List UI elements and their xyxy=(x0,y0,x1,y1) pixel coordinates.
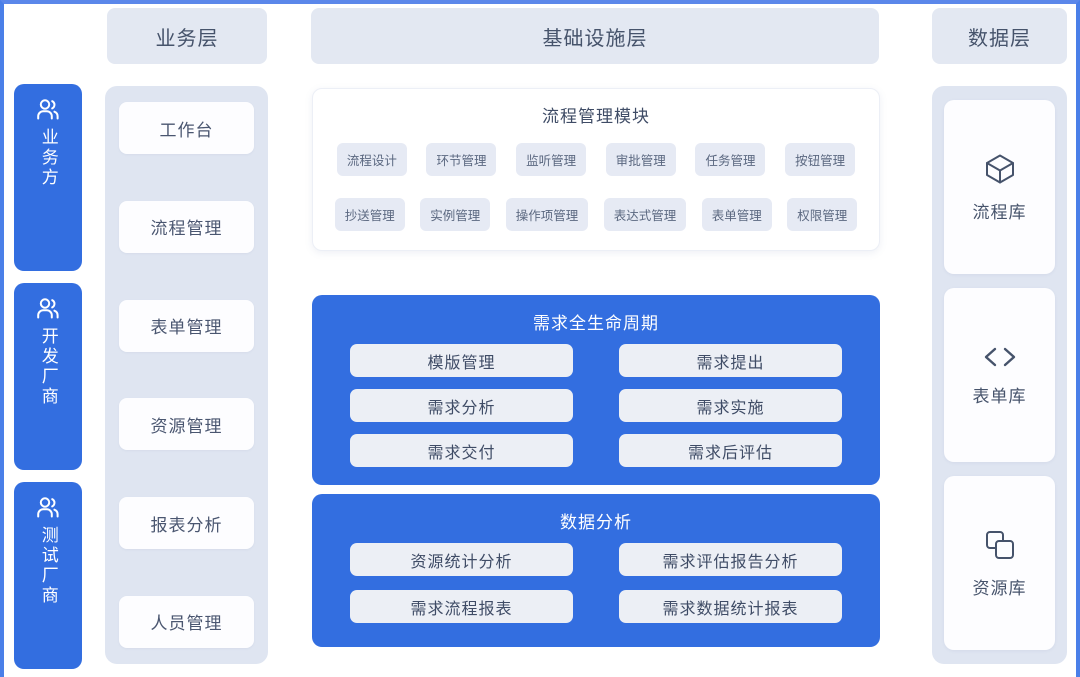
analysis-item-resource-statistics[interactable]: 资源统计分析 xyxy=(350,543,573,576)
role-card-business-party[interactable]: 业务方 xyxy=(14,84,82,271)
business-item-process-management[interactable]: 流程管理 xyxy=(119,201,254,253)
layer-header-infrastructure-label: 基础设施层 xyxy=(543,22,648,51)
users-icon xyxy=(35,496,61,520)
role-label: 开发厂商 xyxy=(38,327,58,407)
lifecycle-item-template-management[interactable]: 模版管理 xyxy=(350,344,573,377)
business-item-label: 工作台 xyxy=(160,116,214,141)
infrastructure-layer-area: 流程管理模块 流程设计 环节管理 监听管理 审批管理 任务管理 按钮管理 抄送管… xyxy=(284,80,898,670)
lifecycle-item-requirement-delivery[interactable]: 需求交付 xyxy=(350,434,573,467)
process-module-tag-row-1: 流程设计 环节管理 监听管理 审批管理 任务管理 按钮管理 xyxy=(313,143,879,176)
tag-node-management[interactable]: 环节管理 xyxy=(426,143,496,176)
business-item-resource-management[interactable]: 资源管理 xyxy=(119,398,254,450)
cube-icon xyxy=(983,152,1017,186)
analysis-item-evaluation-report[interactable]: 需求评估报告分析 xyxy=(619,543,842,576)
data-layer-panel: 流程库 表单库 资源库 xyxy=(932,86,1067,664)
layer-header-business: 业务层 xyxy=(107,8,267,64)
business-item-report-analysis[interactable]: 报表分析 xyxy=(119,497,254,549)
process-module-tag-row-2: 抄送管理 实例管理 操作项管理 表达式管理 表单管理 权限管理 xyxy=(313,198,879,231)
data-card-process-repository[interactable]: 流程库 xyxy=(944,100,1055,274)
business-layer-panel: 工作台 流程管理 表单管理 资源管理 报表分析 人员管理 xyxy=(105,86,268,664)
code-brackets-icon xyxy=(981,344,1019,370)
lifecycle-item-requirement-raise[interactable]: 需求提出 xyxy=(619,344,842,377)
users-icon xyxy=(35,297,61,321)
business-item-personnel-management[interactable]: 人员管理 xyxy=(119,596,254,648)
business-item-workbench[interactable]: 工作台 xyxy=(119,102,254,154)
lifecycle-item-requirement-implementation[interactable]: 需求实施 xyxy=(619,389,842,422)
analysis-item-process-report[interactable]: 需求流程报表 xyxy=(350,590,573,623)
data-card-label: 表单库 xyxy=(973,382,1027,407)
tag-form-management[interactable]: 表单管理 xyxy=(702,198,772,231)
layer-header-infrastructure: 基础设施层 xyxy=(311,8,879,64)
tag-cc-management[interactable]: 抄送管理 xyxy=(335,198,405,231)
tag-permission-management[interactable]: 权限管理 xyxy=(787,198,857,231)
business-item-label: 表单管理 xyxy=(151,313,223,338)
business-item-label: 报表分析 xyxy=(151,511,223,536)
tag-operation-management[interactable]: 操作项管理 xyxy=(506,198,589,231)
lifecycle-item-requirement-analysis[interactable]: 需求分析 xyxy=(350,389,573,422)
process-module-title: 流程管理模块 xyxy=(313,102,879,127)
lifecycle-block-grid: 模版管理 需求提出 需求分析 需求实施 需求交付 需求后评估 xyxy=(350,344,842,467)
tag-process-design[interactable]: 流程设计 xyxy=(337,143,407,176)
role-label: 业务方 xyxy=(38,128,58,188)
tag-task-management[interactable]: 任务管理 xyxy=(695,143,765,176)
process-management-module-card: 流程管理模块 流程设计 环节管理 监听管理 审批管理 任务管理 按钮管理 抄送管… xyxy=(312,88,880,251)
requirement-lifecycle-block: 需求全生命周期 模版管理 需求提出 需求分析 需求实施 需求交付 需求后评估 xyxy=(312,295,880,485)
layer-header-business-label: 业务层 xyxy=(156,22,219,51)
role-card-test-vendor[interactable]: 测试厂商 xyxy=(14,482,82,669)
business-item-form-management[interactable]: 表单管理 xyxy=(119,300,254,352)
role-rail: 业务方 开发厂商 测试厂商 xyxy=(14,84,82,669)
data-card-label: 资源库 xyxy=(973,574,1027,599)
lifecycle-block-title: 需求全生命周期 xyxy=(350,309,842,334)
business-item-label: 资源管理 xyxy=(151,412,223,437)
architecture-diagram: 业务层 基础设施层 数据层 业务方 xyxy=(0,0,1080,677)
data-card-label: 流程库 xyxy=(973,198,1027,223)
analysis-block-grid: 资源统计分析 需求评估报告分析 需求流程报表 需求数据统计报表 xyxy=(350,543,842,623)
role-label: 测试厂商 xyxy=(38,526,58,606)
copy-layers-icon xyxy=(983,528,1017,562)
data-card-resource-repository[interactable]: 资源库 xyxy=(944,476,1055,650)
role-card-dev-vendor[interactable]: 开发厂商 xyxy=(14,283,82,470)
layer-header-data-label: 数据层 xyxy=(968,22,1031,51)
layer-header-data: 数据层 xyxy=(932,8,1067,64)
data-analysis-block: 数据分析 资源统计分析 需求评估报告分析 需求流程报表 需求数据统计报表 xyxy=(312,494,880,647)
tag-listener-management[interactable]: 监听管理 xyxy=(516,143,586,176)
data-card-form-repository[interactable]: 表单库 xyxy=(944,288,1055,462)
lifecycle-item-post-evaluation[interactable]: 需求后评估 xyxy=(619,434,842,467)
analysis-block-title: 数据分析 xyxy=(350,508,842,533)
tag-approval-management[interactable]: 审批管理 xyxy=(606,143,676,176)
business-item-label: 人员管理 xyxy=(151,609,223,634)
business-item-label: 流程管理 xyxy=(151,214,223,239)
users-icon xyxy=(35,98,61,122)
tag-expression-management[interactable]: 表达式管理 xyxy=(604,198,687,231)
analysis-item-data-statistics-report[interactable]: 需求数据统计报表 xyxy=(619,590,842,623)
tag-instance-management[interactable]: 实例管理 xyxy=(420,198,490,231)
tag-button-management[interactable]: 按钮管理 xyxy=(785,143,855,176)
